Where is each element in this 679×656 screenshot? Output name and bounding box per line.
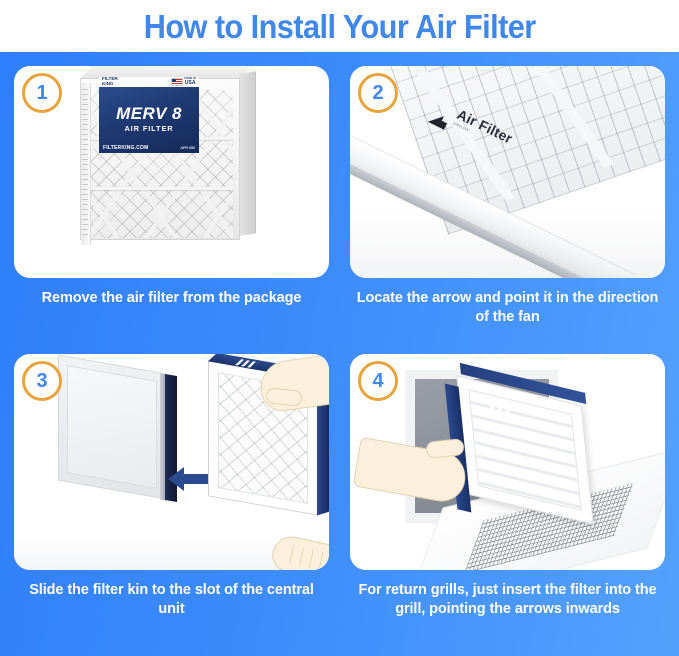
us-flag-icon bbox=[171, 78, 183, 87]
step-1-number-badge: 1 bbox=[22, 73, 62, 113]
step-4-image-panel: 4 bbox=[350, 354, 665, 570]
made-in-usa-badge: MADE IN USA bbox=[171, 78, 196, 87]
step-4: 4 For return grills, just insert the fil… bbox=[350, 354, 665, 650]
step-4-number-badge: 4 bbox=[358, 361, 398, 401]
merv-rating-block: MERV 8 AIR FILTER bbox=[99, 105, 199, 133]
label-header-strip: FILTER KING MADE IN USA bbox=[99, 77, 199, 87]
steps-grid: MERV 8 AIR FILTER FILTERKING.COM APR 650 bbox=[0, 52, 679, 656]
step-3: 3 Slide the filter kin to the slot of th… bbox=[14, 354, 329, 650]
step-2-number-badge: 2 bbox=[358, 73, 398, 113]
country-name: USA bbox=[185, 80, 196, 86]
country-text: MADE IN USA bbox=[184, 78, 196, 86]
filter-wire-row bbox=[89, 187, 233, 190]
step-2-caption: Locate the arrow and point it in the dir… bbox=[350, 289, 665, 326]
step-2-image-panel: Air Filter AIRFLOW 2 bbox=[350, 66, 665, 278]
step-2: Air Filter AIRFLOW 2 Locate the arrow an… bbox=[350, 66, 665, 346]
step-1: MERV 8 AIR FILTER FILTERKING.COM APR 650 bbox=[14, 66, 329, 346]
filter-front-face: MERV 8 AIR FILTER FILTERKING.COM APR 650 bbox=[80, 78, 240, 240]
step-4-caption: For return grills, just insert the filte… bbox=[350, 581, 665, 618]
brand-website: FILTERKING.COM bbox=[103, 145, 148, 151]
grill-louvers bbox=[468, 389, 581, 511]
product-label: MERV 8 AIR FILTER FILTERKING.COM APR 650 bbox=[99, 85, 199, 153]
central-unit-body bbox=[58, 354, 166, 499]
page-title: How to Install Your Air Filter bbox=[144, 10, 536, 43]
product-type: AIR FILTER bbox=[99, 124, 199, 133]
brand-logo: FILTER KING bbox=[102, 77, 118, 87]
brand-name-line2: KING bbox=[102, 82, 118, 87]
infographic-page: How to Install Your Air Filter bbox=[0, 0, 679, 656]
insert-direction-arrow-icon bbox=[166, 464, 212, 499]
filter-side-face bbox=[239, 71, 256, 236]
filter-pleat-edge bbox=[82, 89, 88, 237]
step-3-caption: Slide the filter kin to the slot of the … bbox=[14, 581, 329, 618]
label-footer: FILTERKING.COM APR 650 bbox=[103, 145, 195, 151]
step-3-image-panel: 3 bbox=[14, 354, 329, 570]
central-unit-slot bbox=[67, 365, 157, 489]
panel-shadow bbox=[350, 208, 665, 278]
merv-rating: MERV 8 bbox=[99, 105, 199, 122]
step-3-number-badge: 3 bbox=[22, 361, 62, 401]
header: How to Install Your Air Filter bbox=[0, 0, 679, 52]
apr-value: APR 650 bbox=[180, 146, 195, 150]
step-1-image-panel: MERV 8 AIR FILTER FILTERKING.COM APR 650 bbox=[14, 66, 329, 278]
step-1-caption: Remove the air filter from the package bbox=[14, 289, 329, 308]
filter-product: MERV 8 AIR FILTER FILTERKING.COM APR 650 bbox=[80, 74, 255, 244]
